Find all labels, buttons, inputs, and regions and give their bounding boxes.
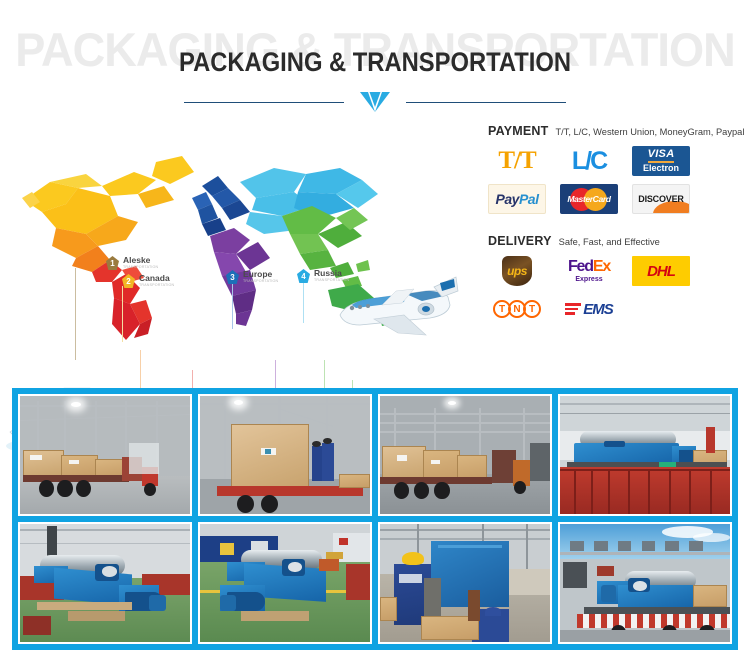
tnt-logo-icon: T N T: [488, 294, 546, 324]
payment-block: PAYMENT T/T, L/C, Western Union, MoneyGr…: [488, 124, 750, 214]
photo-blue-centrifuge-workshop: [20, 524, 190, 642]
gallery-photo-cell[interactable]: [558, 394, 732, 516]
ems-wordmark: EMS: [583, 301, 613, 318]
fedex-fed-text: Fed: [568, 258, 593, 275]
middle-section: 1 Aleske TRANSPORTATION 2 Canada TRANSPO…: [0, 120, 750, 370]
delivery-keyword: DELIVERY: [488, 234, 552, 248]
pin-sublabel: TRANSPORTATION: [243, 280, 278, 284]
map-pin-aleske[interactable]: 1 Aleske TRANSPORTATION: [106, 256, 158, 270]
payment-logo-grid: T/T L/C VISA Electron Pay Pal Master: [488, 146, 750, 214]
photo-crates-on-flatbed-trailer: [20, 396, 190, 514]
fedex-logo-icon: FedEx Express: [560, 256, 618, 286]
ems-red-bars: [565, 303, 581, 314]
fedex-express-text: Express: [575, 276, 602, 283]
delivery-heading: DELIVERY Safe, Fast, and Effective: [488, 234, 750, 248]
w-triangle-logo-icon: [358, 91, 392, 113]
tt-logo-icon: T/T: [488, 146, 546, 176]
visa-wordmark: VISA: [648, 149, 675, 161]
delivery-logo-grid: ups FedEx Express DHL T N T: [488, 256, 750, 324]
photo-cssc-workers-crating-equipment: [380, 524, 550, 642]
packaging-photo-gallery: [12, 388, 738, 650]
page-title: PACKAGING & TRANSPORTATION: [45, 47, 705, 78]
gallery-photo-cell[interactable]: [198, 522, 372, 644]
gallery-photo-cell[interactable]: [198, 394, 372, 516]
paypal-logo-icon: Pay Pal: [488, 184, 546, 214]
electron-wordmark: Electron: [643, 164, 679, 173]
divider-line-right: [406, 102, 566, 103]
pin-sublabel: TRANSPORTATION: [139, 284, 174, 288]
ups-logo-icon: ups: [488, 256, 546, 286]
ems-logo-icon: EMS: [560, 294, 618, 324]
visa-electron-logo-icon: VISA Electron: [632, 146, 690, 176]
fedex-wordmark: FedEx: [568, 259, 610, 275]
pin-stem: [232, 283, 233, 329]
pin-sublabel: TRANSPORTATION: [123, 266, 158, 270]
map-pin-canada[interactable]: 2 Canada TRANSPORTATION: [122, 274, 174, 288]
gallery-photo-cell[interactable]: [378, 522, 552, 644]
gallery-photo-cell[interactable]: [18, 522, 192, 644]
payment-description: T/T, L/C, Western Union, MoneyGram, Payp…: [555, 127, 744, 137]
paypal-pal-text: Pal: [519, 191, 539, 207]
mastercard-logo-icon: MasterCard: [560, 184, 618, 214]
paypal-pay-text: Pay: [496, 191, 519, 207]
pin-label: Europe: [243, 270, 278, 279]
ups-shield-shape: ups: [502, 256, 532, 286]
photo-blue-machine-on-red-truck: [560, 396, 730, 514]
pin-number-badge: 2: [122, 274, 135, 288]
pin-stem: [303, 283, 304, 323]
gallery-photo-cell[interactable]: [18, 394, 192, 516]
gallery-photo-cell[interactable]: [378, 394, 552, 516]
page-header: PACKAGING & TRANSPORTATION PACKAGING & T…: [0, 0, 750, 120]
airplane-icon: [330, 275, 460, 352]
divider-line-left: [184, 102, 344, 103]
pin-number-badge: 3: [226, 270, 239, 284]
discover-wordmark: DISCOVER: [638, 194, 683, 204]
delivery-description: Safe, Fast, and Effective: [559, 237, 660, 247]
packaging-transportation-page: PACKAGING & TRANSPORTATION PACKAGING & T…: [0, 0, 750, 662]
payment-keyword: PAYMENT: [488, 124, 548, 138]
pin-number-badge: 4: [297, 269, 310, 283]
ups-wordmark: ups: [507, 264, 527, 278]
lc-logo-icon: L/C: [560, 146, 618, 176]
payment-delivery-panel: PAYMENT T/T, L/C, Western Union, MoneyGr…: [488, 120, 750, 370]
photo-blue-centrifuge-green-floor: [200, 524, 370, 642]
delivery-block: DELIVERY Safe, Fast, and Effective ups F…: [488, 234, 750, 324]
world-shipping-map: 1 Aleske TRANSPORTATION 2 Canada TRANSPO…: [0, 120, 480, 370]
title-divider: [0, 90, 750, 114]
pin-stem: [122, 286, 123, 342]
payment-heading: PAYMENT T/T, L/C, Western Union, MoneyGr…: [488, 124, 750, 138]
pin-label: Canada: [139, 274, 174, 283]
photo-crates-in-warehouse-bay: [380, 396, 550, 514]
photo-centrifuge-on-truck-outdoors: [560, 524, 730, 642]
dhl-logo-icon: DHL: [632, 256, 690, 286]
discover-logo-icon: DISCOVER: [632, 184, 690, 214]
pin-number-badge: 1: [106, 256, 119, 270]
pin-stem: [75, 268, 76, 360]
photo-worker-beside-large-crate: [200, 396, 370, 514]
fedex-ex-text: Ex: [593, 258, 610, 275]
tnt-letter-t2: T: [523, 300, 541, 318]
map-pin-europe[interactable]: 3 Europe TRANSPORTATION: [226, 270, 278, 284]
dhl-wordmark: DHL: [647, 263, 675, 280]
mastercard-wordmark: MasterCard: [567, 194, 610, 204]
pin-label: Aleske: [123, 256, 158, 265]
gallery-photo-cell[interactable]: [558, 522, 732, 644]
